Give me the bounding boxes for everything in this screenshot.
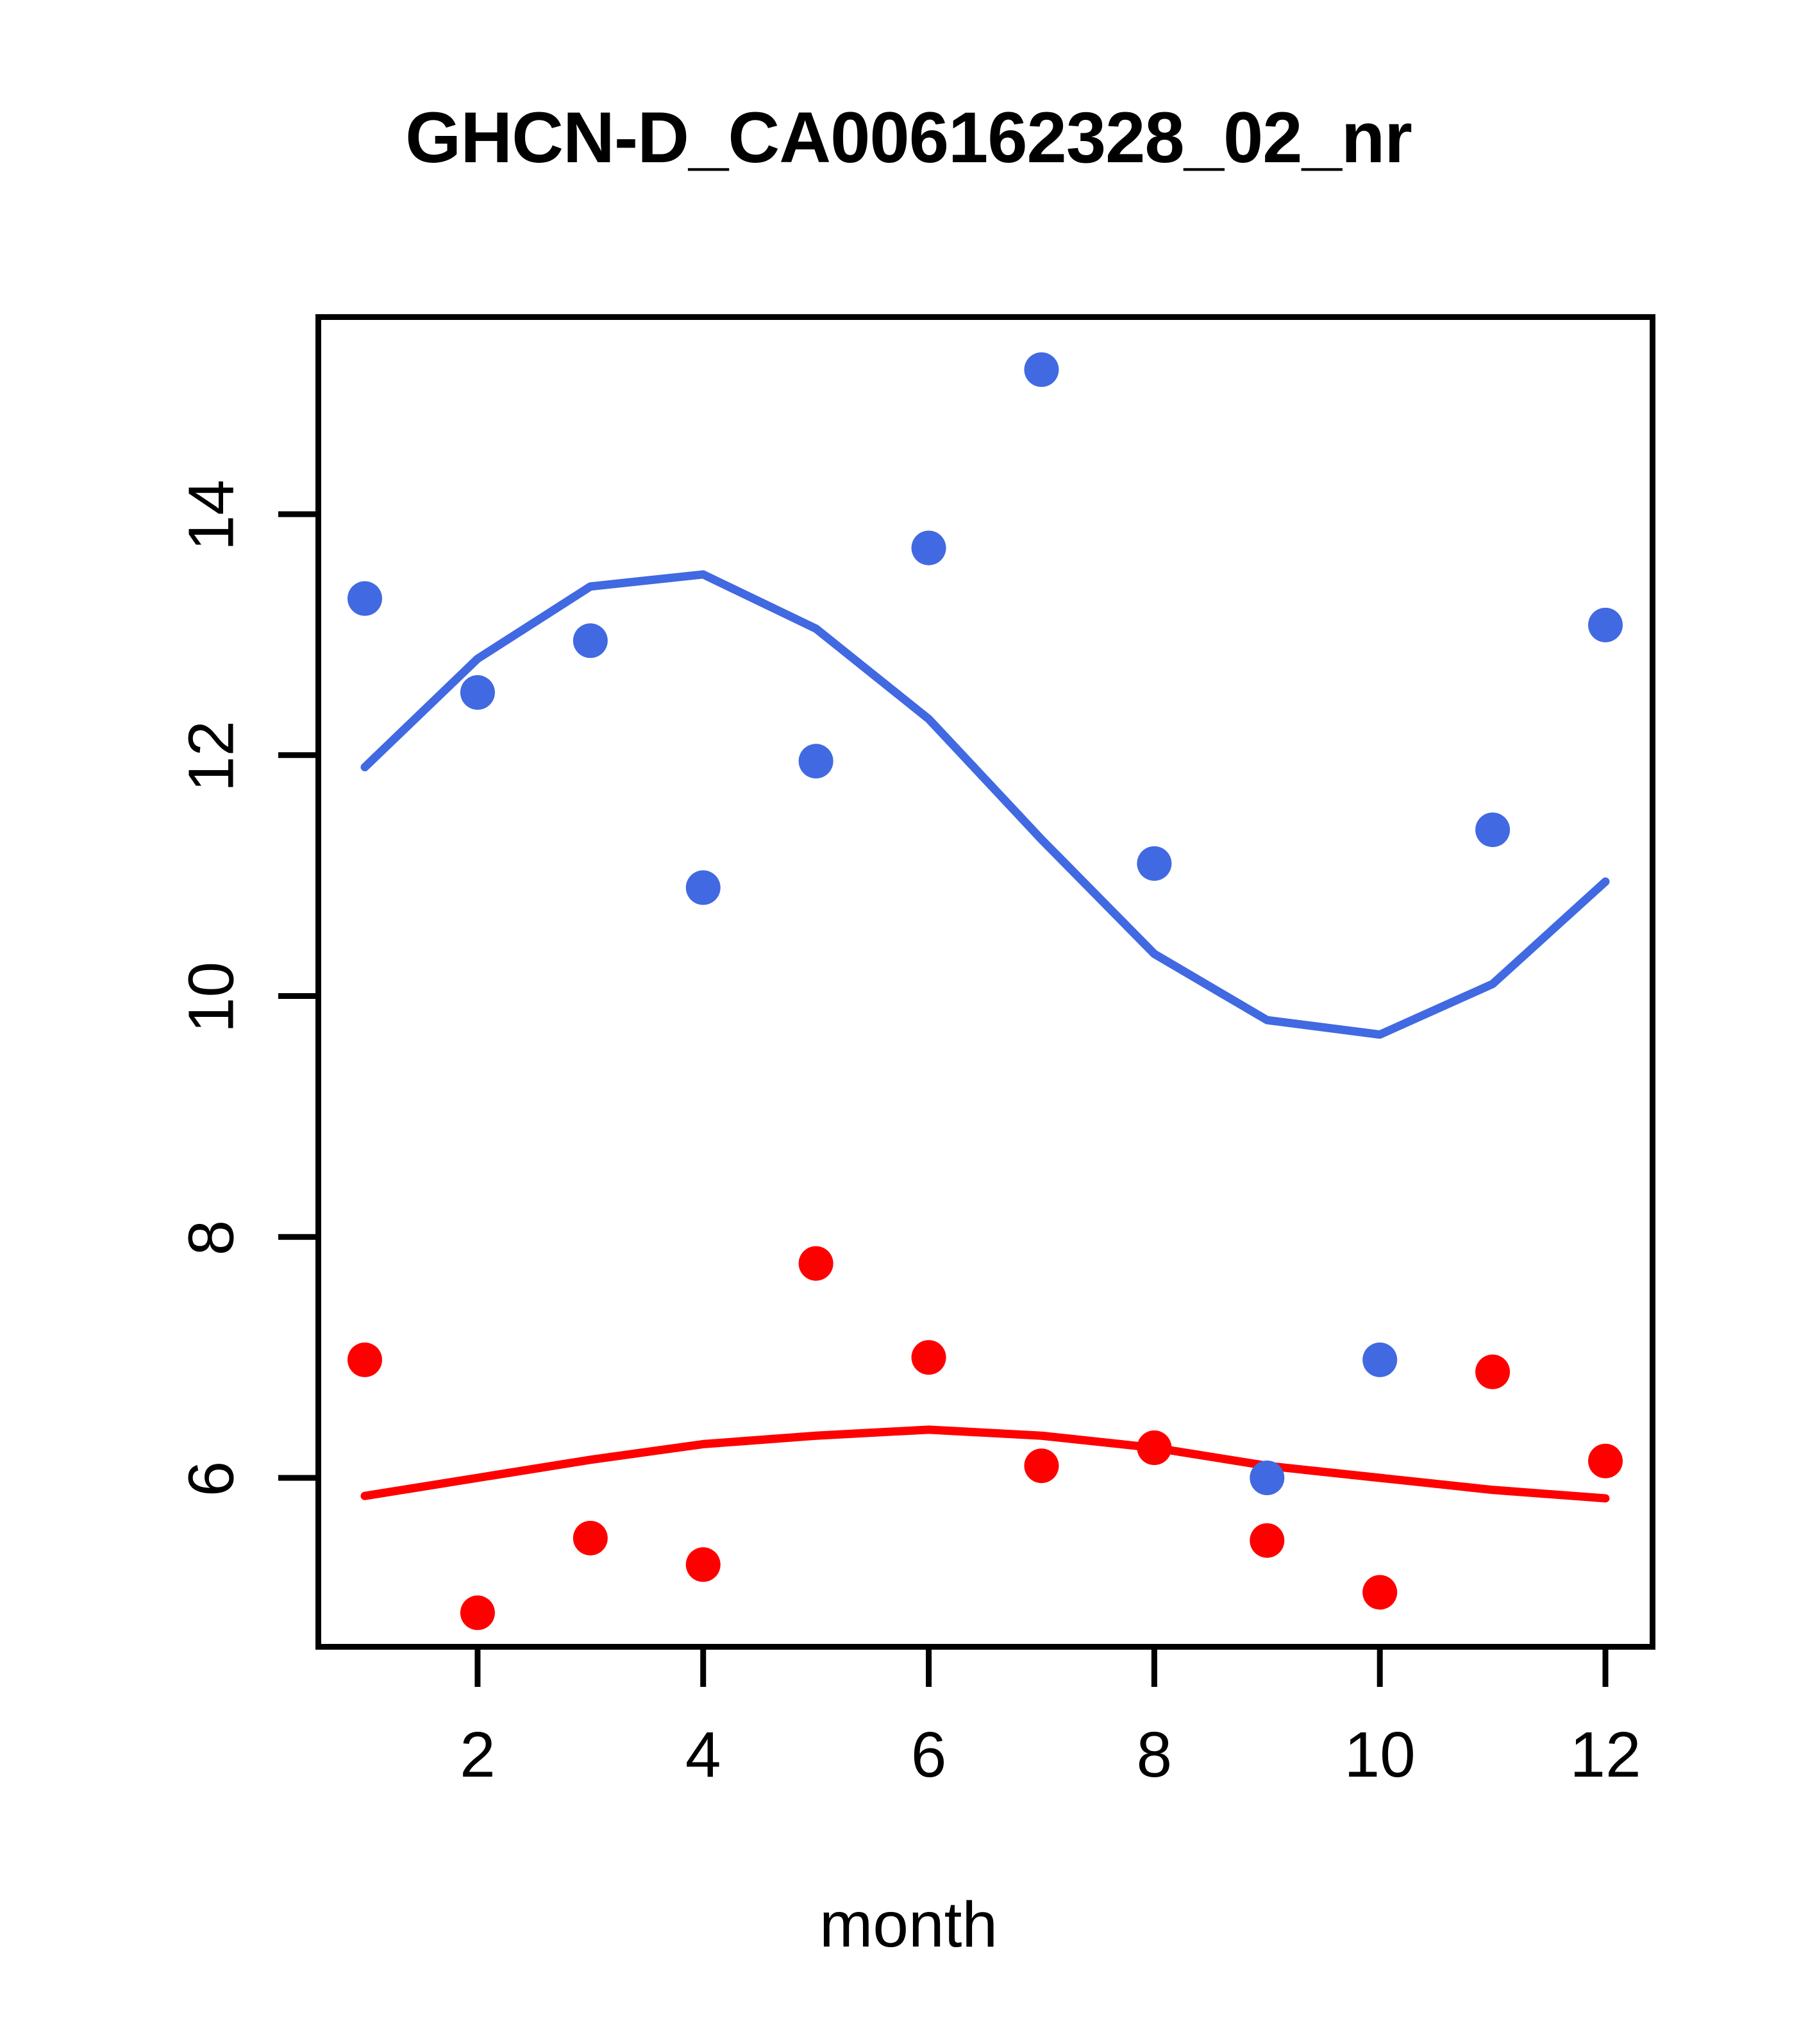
red-data-points xyxy=(347,1246,1623,1630)
y-tick-label: 14 xyxy=(175,464,249,567)
y-axis-ticks xyxy=(278,514,315,1478)
x-tick-label: 4 xyxy=(646,1718,761,1792)
x-tick-label: 12 xyxy=(1548,1718,1663,1792)
y-tick-label: 8 xyxy=(175,1187,249,1289)
blue-trend-line xyxy=(365,574,1605,1035)
y-tick-label: 12 xyxy=(175,705,249,807)
x-axis-ticks xyxy=(478,1650,1605,1687)
x-tick-label: 8 xyxy=(1096,1718,1212,1792)
y-tick-label: 6 xyxy=(175,1428,249,1530)
y-tick-label: 10 xyxy=(175,946,249,1048)
red-trend-line xyxy=(365,1430,1605,1498)
x-tick-label: 2 xyxy=(420,1718,535,1792)
x-axis-label: month xyxy=(0,1888,1817,1962)
x-tick-label: 6 xyxy=(871,1718,987,1792)
x-tick-label: 10 xyxy=(1322,1718,1437,1792)
chart-canvas: GHCN-D_CA006162328_02_nr 68101214 246810… xyxy=(0,0,1817,2044)
blue-data-points xyxy=(347,353,1623,1495)
